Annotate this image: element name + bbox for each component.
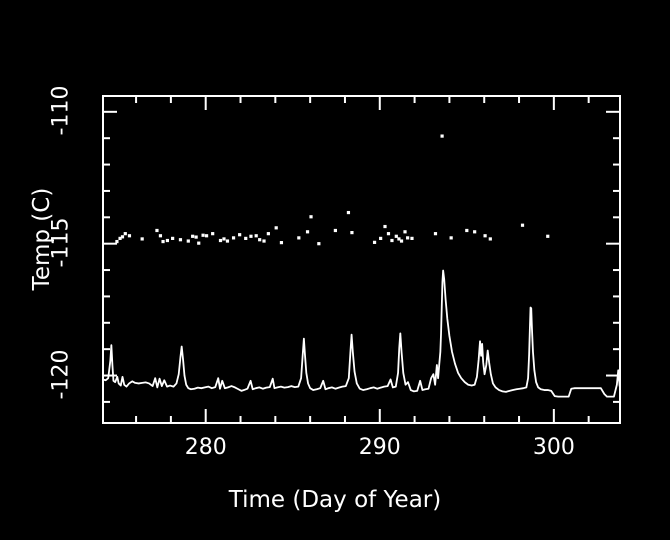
x-tick-label: 280 [161,435,251,460]
x-tick-label: 290 [335,435,425,460]
scatter-point [161,240,164,243]
scatter-point [390,239,393,242]
scatter-point [406,236,409,239]
scatter-point [171,237,174,240]
scatter-point [232,236,235,239]
scatter-point [124,232,127,235]
scatter-point [373,241,376,244]
scatter-point [191,235,194,238]
scatter-point [244,237,247,240]
scatter-point [195,235,198,238]
scatter-point [410,237,413,240]
scatter-point [179,238,182,241]
scatter-point [141,237,144,240]
scatter-point [350,231,353,234]
scatter-point [434,232,437,235]
scatter-point [546,235,549,238]
scatter-point [249,235,252,238]
scatter-point [197,242,200,245]
x-tick-label: 300 [509,435,599,460]
y-tick-label: -120 [49,324,74,424]
scatter-point [483,234,486,237]
scatter-point [128,234,131,237]
scatter-point [473,230,476,233]
scatter-point [521,224,524,227]
scatter-point [347,211,350,214]
scatter-point [403,230,406,233]
scatter-point [317,242,320,245]
scatter-point [115,240,118,243]
scatter-point [465,229,468,232]
scatter-point [205,234,208,237]
scatter-point [219,239,222,242]
scatter-point [489,237,492,240]
scatter-point [155,229,158,232]
scatter-point [280,241,283,244]
scatter-point [166,239,169,242]
scatter-point [297,236,300,239]
x-axis-label: Time (Day of Year) [0,487,670,513]
scatter-point [121,235,124,238]
scatter-point [334,229,337,232]
scatter-point [275,226,278,229]
scatter-point [226,239,229,242]
y-tick-label: -110 [49,60,74,160]
scatter-point [211,232,214,235]
scatter-point [262,239,265,242]
scatter-point [238,233,241,236]
scatter-point [379,237,382,240]
y-tick-label: -115 [49,192,74,292]
scatter-point [201,234,204,237]
scatter-point [400,239,403,242]
scatter-point [258,238,261,241]
scatter-point [441,134,444,137]
scatter-point [450,236,453,239]
scatter-point [387,232,390,235]
scatter-point [267,232,270,235]
scatter-point [187,239,190,242]
scatter-point [159,234,162,237]
scatter-point [383,225,386,228]
scatter-point [309,215,312,218]
scatter-point [222,237,225,240]
scatter-point [255,234,258,237]
chart-canvas: ACIS Focal Plane Temperature (Month Plot… [0,0,670,540]
scatter-point [306,230,309,233]
